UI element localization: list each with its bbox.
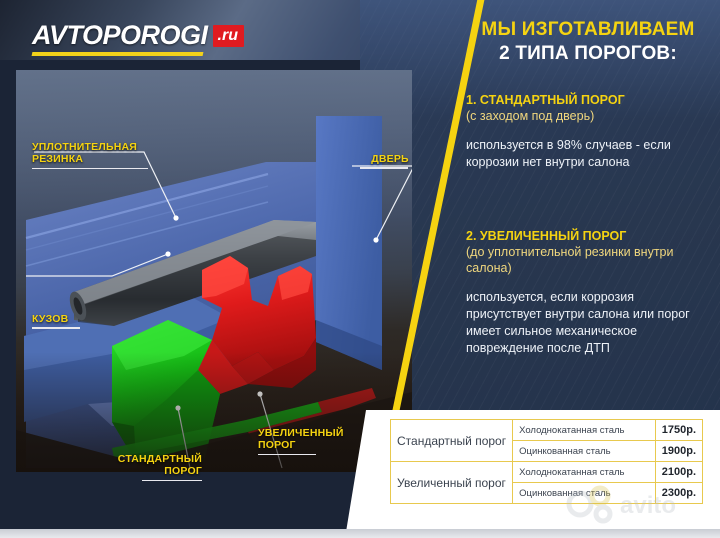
table-cell-material: Оцинкованная сталь bbox=[513, 483, 656, 504]
page-title-line1: МЫ ИЗГОТАВЛИВАЕМ bbox=[468, 18, 708, 42]
table-cell-price: 2300р. bbox=[655, 483, 702, 504]
label-underline bbox=[360, 167, 408, 169]
section-enlarged-sill: 2. УВЕЛИЧЕННЫЙ ПОРОГ (до уплотнительной … bbox=[466, 228, 712, 357]
logo-underline bbox=[32, 52, 204, 56]
table-cell-price: 1900р. bbox=[655, 441, 702, 462]
section-standard-subtitle: (с заходом под дверь) bbox=[466, 108, 712, 124]
label-sealing-rubber: УПЛОТНИТЕЛЬНАЯ РЕЗИНКА bbox=[32, 128, 172, 182]
label-standard-sill-text: СТАНДАРТНЫЙ ПОРОГ bbox=[118, 453, 202, 478]
label-door-text: ДВЕРЬ bbox=[371, 153, 409, 165]
bottom-strip bbox=[0, 529, 720, 538]
label-underline bbox=[142, 480, 202, 482]
price-table: Стандартный порог Холоднокатанная сталь … bbox=[390, 419, 703, 504]
logo-tld-badge: .ru bbox=[213, 25, 244, 47]
section-standard-title: 1. СТАНДАРТНЫЙ ПОРОГ bbox=[466, 92, 712, 108]
label-underline bbox=[32, 168, 148, 170]
logo-wordmark: AVTOPOROGI bbox=[32, 22, 208, 49]
label-enlarged-sill-text: УВЕЛИЧЕННЫЙ ПОРОГ bbox=[258, 427, 344, 452]
table-cell-price: 2100р. bbox=[655, 462, 702, 483]
label-standard-sill: СТАНДАРТНЫЙ ПОРОГ bbox=[92, 440, 202, 494]
page-title: МЫ ИЗГОТАВЛИВАЕМ 2 ТИПА ПОРОГОВ: bbox=[468, 18, 708, 66]
table-cell-product-name: Увеличенный порог bbox=[391, 462, 513, 504]
page-title-line2: 2 ТИПА ПОРОГОВ: bbox=[468, 42, 708, 66]
table-cell-material: Оцинкованная сталь bbox=[513, 441, 656, 462]
poster-canvas: УПЛОТНИТЕЛЬНАЯ РЕЗИНКА ДВЕРЬ КУЗОВ СТАНД… bbox=[0, 0, 720, 538]
table-cell-material: Холоднокатанная сталь bbox=[513, 462, 656, 483]
label-underline bbox=[32, 327, 80, 329]
label-door: ДВЕРЬ bbox=[360, 140, 420, 181]
table-row: Увеличенный порог Холоднокатанная сталь … bbox=[391, 462, 703, 483]
label-enlarged-sill: УВЕЛИЧЕННЫЙ ПОРОГ bbox=[258, 414, 368, 468]
label-underline bbox=[258, 454, 316, 456]
site-logo[interactable]: AVTOPOROGI .ru bbox=[32, 22, 244, 56]
section-enlarged-subtitle: (до уплотнительной резинки внутри салона… bbox=[466, 244, 712, 276]
label-sealing-rubber-text: УПЛОТНИТЕЛЬНАЯ РЕЗИНКА bbox=[32, 141, 137, 166]
section-standard-body: используется в 98% случаев - если корроз… bbox=[466, 137, 712, 171]
table-cell-material: Холоднокатанная сталь bbox=[513, 420, 656, 441]
section-standard-sill: 1. СТАНДАРТНЫЙ ПОРОГ (с заходом под двер… bbox=[466, 92, 712, 171]
label-body: КУЗОВ bbox=[32, 300, 102, 341]
table-cell-product-name: Стандартный порог bbox=[391, 420, 513, 462]
table-cell-price: 1750р. bbox=[655, 420, 702, 441]
label-body-text: КУЗОВ bbox=[32, 313, 68, 325]
section-enlarged-title: 2. УВЕЛИЧЕННЫЙ ПОРОГ bbox=[466, 228, 712, 244]
table-row: Стандартный порог Холоднокатанная сталь … bbox=[391, 420, 703, 441]
section-enlarged-body: используется, если коррозия присутствует… bbox=[466, 289, 712, 357]
